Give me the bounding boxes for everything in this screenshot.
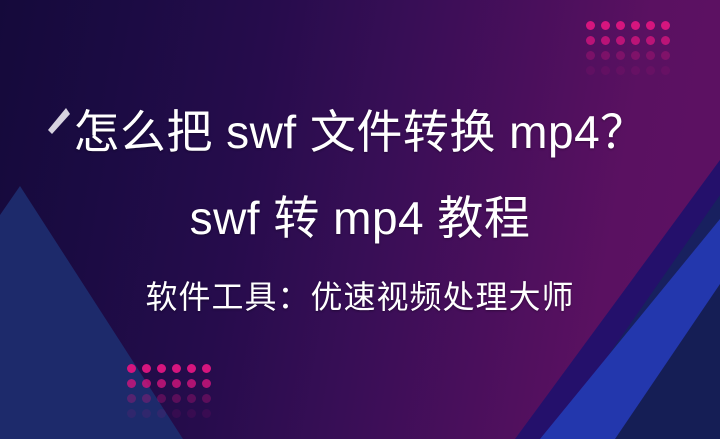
dot: [601, 51, 610, 60]
banner-canvas: 怎么把 swf 文件转换 mp4？ swf 转 mp4 教程 软件工具：优速视频…: [0, 0, 720, 439]
dot: [616, 51, 625, 60]
dot: [172, 379, 181, 388]
dot: [646, 51, 655, 60]
dot: [142, 409, 151, 418]
banner-title-line-1: 怎么把 swf 文件转换 mp4？: [0, 104, 720, 160]
banner-subtitle: 软件工具：优速视频处理大师: [0, 276, 720, 318]
dot: [586, 36, 595, 45]
dot: [127, 394, 136, 403]
dot: [187, 409, 196, 418]
dot: [661, 66, 670, 75]
dot: [661, 21, 670, 30]
dot: [157, 394, 166, 403]
dot: [631, 36, 640, 45]
dot: [661, 36, 670, 45]
dot: [661, 51, 670, 60]
dot: [601, 36, 610, 45]
dot: [586, 51, 595, 60]
dot: [157, 364, 166, 373]
dot: [616, 21, 625, 30]
banner-title-line-2: swf 转 mp4 教程: [0, 190, 720, 246]
dot: [601, 21, 610, 30]
dot: [202, 379, 211, 388]
dot: [631, 66, 640, 75]
dot: [157, 379, 166, 388]
dot: [142, 394, 151, 403]
dot: [142, 379, 151, 388]
dot: [127, 364, 136, 373]
dot-grid-bottom-left: [124, 361, 214, 421]
dot: [646, 21, 655, 30]
dot: [187, 394, 196, 403]
band-blue-bright: [585, 240, 720, 439]
dot: [187, 364, 196, 373]
dot: [202, 394, 211, 403]
dot: [187, 379, 196, 388]
dot: [202, 409, 211, 418]
band-lower-bright: [540, 219, 720, 439]
dot-grid-top-right: [583, 18, 673, 78]
dot: [616, 36, 625, 45]
dot: [202, 364, 211, 373]
dot: [586, 21, 595, 30]
dot: [127, 379, 136, 388]
dot: [127, 409, 136, 418]
dot: [631, 21, 640, 30]
dot: [172, 364, 181, 373]
dot: [631, 51, 640, 60]
dot: [646, 66, 655, 75]
dot: [172, 409, 181, 418]
dot: [142, 364, 151, 373]
dot: [616, 66, 625, 75]
dot: [172, 394, 181, 403]
dot: [646, 36, 655, 45]
dot: [601, 66, 610, 75]
dot: [586, 66, 595, 75]
dot: [157, 409, 166, 418]
